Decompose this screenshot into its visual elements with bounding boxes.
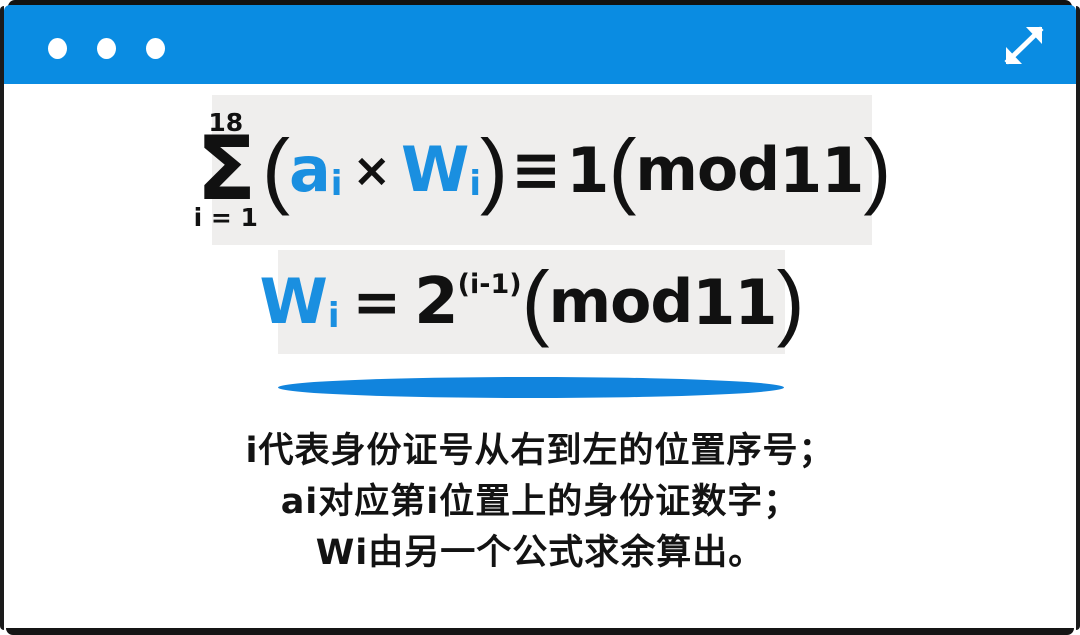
weight-formula: Wi = 2(i-1) ( mod 11 ): [259, 264, 803, 340]
close-paren: ): [480, 132, 507, 208]
weight-modulus-open-paren: (: [522, 264, 549, 340]
caption-line-1: i代表身份证号从右到左的位置序号；: [4, 426, 1076, 477]
equals-icon: =: [353, 268, 401, 336]
weight-variable-w: Wi: [259, 271, 338, 333]
variable-w: Wi: [401, 139, 480, 201]
modulus-value: 11: [779, 134, 863, 207]
window-controls: [48, 38, 165, 59]
modulus-close-paren: ): [863, 132, 890, 208]
caption-line-3: Wi由另一个公式求余算出。: [4, 528, 1076, 579]
caption-line-2: ai对应第i位置上的身份证数字；: [4, 477, 1076, 528]
caption-block: i代表身份证号从右到左的位置序号； ai对应第i位置上的身份证数字； Wi由另一…: [4, 426, 1076, 578]
window-dot-1[interactable]: [48, 38, 67, 59]
weight-variable-w-subscript: i: [328, 296, 339, 336]
sigma-icon: Σ: [196, 133, 255, 205]
window-border-bottom: [6, 628, 1074, 635]
power-base: 2: [414, 265, 458, 339]
weight-modulus-close-paren: ): [777, 264, 804, 340]
weight-formula-panel: Wi = 2(i-1) ( mod 11 ): [278, 250, 785, 354]
variable-w-base: W: [401, 133, 468, 206]
congruence-formula: 18 Σ i = 1 ( ai × Wi ) ≡ 1 ( mod 11 ): [194, 110, 891, 229]
summation-lower-limit: i = 1: [194, 205, 258, 230]
variable-a: ai: [289, 139, 342, 201]
power-exponent: (i-1): [458, 269, 522, 300]
divider-pill: [278, 377, 784, 398]
variable-a-subscript: i: [331, 164, 342, 204]
expand-arrows-icon[interactable]: [998, 21, 1050, 71]
congruence-result: 1: [566, 134, 608, 207]
window-dot-2[interactable]: [97, 38, 116, 59]
open-paren: (: [262, 132, 289, 208]
modulus-label: mod: [635, 135, 779, 205]
title-bar: [4, 5, 1076, 84]
weight-variable-w-base: W: [259, 265, 326, 338]
variable-a-base: a: [289, 133, 330, 206]
congruence-formula-panel: 18 Σ i = 1 ( ai × Wi ) ≡ 1 ( mod 11 ): [212, 95, 872, 245]
weight-modulus-label: mod: [549, 267, 693, 337]
window-frame: 18 Σ i = 1 ( ai × Wi ) ≡ 1 ( mod 11 ): [0, 0, 1080, 635]
variable-w-subscript: i: [469, 164, 480, 204]
window-dot-3[interactable]: [146, 38, 165, 59]
window-border-right: [1076, 6, 1080, 630]
summation-operator: 18 Σ i = 1: [194, 110, 258, 229]
equivalence-icon: ≡: [511, 135, 560, 205]
modulus-open-paren: (: [608, 132, 635, 208]
content-area: 18 Σ i = 1 ( ai × Wi ) ≡ 1 ( mod 11 ): [4, 84, 1076, 628]
weight-modulus-value: 11: [692, 266, 776, 339]
multiplication-icon: ×: [352, 143, 390, 197]
